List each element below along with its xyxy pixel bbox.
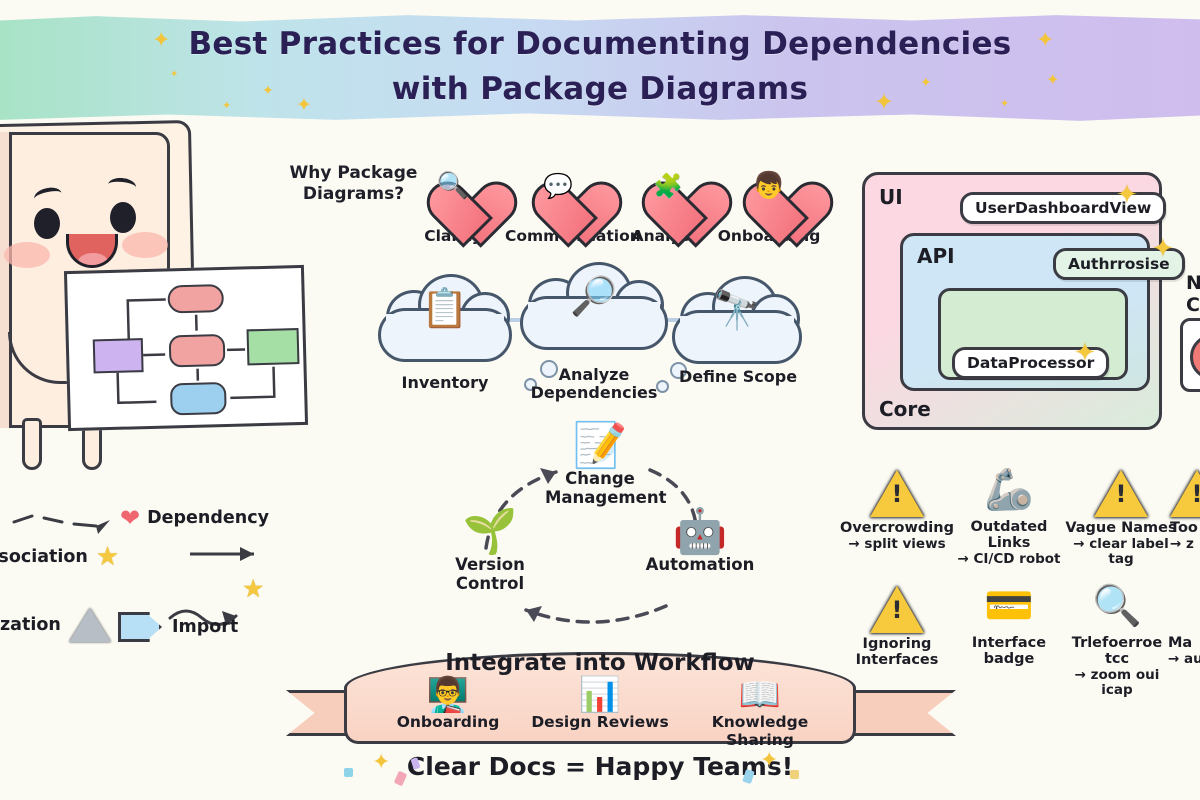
ribbon-item-label: Onboarding: [368, 713, 528, 731]
sparkle-icon: ✦: [222, 100, 231, 111]
pitfall-too-cutoff[interactable]: ! Too → z: [1170, 470, 1200, 552]
infographic-canvas: Best Practices for Documenting Dependenc…: [0, 0, 1200, 800]
warning-exclamation: !: [870, 482, 924, 506]
eye-left: [34, 208, 60, 239]
legend-label-import: Import: [172, 617, 238, 637]
book-spine: [0, 132, 12, 428]
presentation-icon: 📊: [520, 678, 680, 712]
star-icon: ★: [96, 544, 119, 570]
pitfall-fix: → clear label tag: [1062, 537, 1180, 567]
sparkle-icon: ✦: [920, 76, 932, 90]
interface-badge-icon: 💳: [950, 586, 1068, 632]
blush-right: [122, 232, 168, 258]
eye-right: [110, 202, 136, 233]
pitfall-title: Outdated Links: [950, 520, 1068, 552]
cutoff-line-1: N: [1186, 272, 1200, 294]
puzzle-icon: 🧩: [648, 168, 688, 204]
telescope-icon: 🔭: [664, 288, 810, 333]
robot-icon: 🤖: [645, 510, 755, 554]
sparkle-icon: ✦: [262, 84, 274, 98]
pitfall-title: Ma: [1168, 636, 1200, 652]
why-item-communication[interactable]: 💬 Communication: [505, 148, 611, 245]
ribbon-item-knowledge-sharing[interactable]: 📖 Knowledge Sharing: [680, 678, 840, 749]
blush-left: [4, 242, 50, 268]
legend-label-association: ssociation: [0, 547, 88, 567]
why-item-analysis[interactable]: 🧩 Analysis: [615, 148, 721, 245]
heart-shape: 👦: [727, 148, 811, 224]
sparkle-icon: ✦: [152, 30, 170, 52]
star-icon: ✦: [1116, 182, 1138, 208]
open-book-icon: 📖: [680, 678, 840, 712]
warning-icon: !: [870, 586, 924, 633]
ribbon-tail-right: [846, 690, 956, 736]
legend-row-generalization: lization: [0, 608, 111, 642]
cutoff-line-2: C: [1186, 294, 1200, 316]
warning-exclamation: !: [1094, 482, 1148, 506]
sparkle-icon: ✦: [760, 750, 778, 772]
cloud-define-scope[interactable]: 🔭 Define Scope: [664, 270, 810, 374]
warning-exclamation: !: [1170, 482, 1200, 506]
window-pencil-icon: 📝: [545, 424, 655, 468]
ribbon-item-label: Knowledge Sharing: [680, 713, 840, 749]
sparkle-icon: ✦: [296, 96, 312, 115]
cloud-analyze-dependencies[interactable]: 🔎 Analyze Dependencies: [512, 256, 676, 366]
why-item-clarity[interactable]: 🔍 Clarity: [400, 148, 506, 245]
spacer: [1168, 586, 1200, 632]
leg-left: [22, 418, 42, 470]
ribbon-item-onboarding[interactable]: 👨‍🏫 Onboarding: [368, 678, 528, 731]
wb-connectors: [67, 268, 311, 434]
legend-row-wavy: ★: [242, 576, 264, 601]
sparkle-icon: ✦: [874, 90, 894, 114]
sparkle-icon: ✦: [1046, 72, 1059, 88]
package-label-core: Core: [879, 397, 931, 421]
cloud-label: Define Scope: [650, 368, 826, 386]
sparkle-icon: ✦: [1000, 98, 1009, 109]
magnifier-icon: 🔍: [433, 168, 473, 204]
sparkle-icon: ✦: [170, 70, 178, 80]
import-icon: [118, 612, 162, 642]
pitfall-title: Vague Names: [1062, 521, 1180, 537]
cloud-inventory[interactable]: 📋 Inventory: [370, 268, 520, 372]
pitfall-fix: → split views: [838, 537, 956, 552]
warning-exclamation: !: [870, 598, 924, 622]
ribbon-title: Integrate into Workflow: [344, 650, 856, 676]
confetti: [790, 770, 799, 779]
legend-row-import: Import: [118, 612, 238, 642]
pitfall-ma-cutoff[interactable]: Ma → au: [1168, 586, 1200, 667]
book-mascot: [0, 116, 246, 508]
warning-icon: !: [1170, 470, 1200, 517]
pitfall-title: Interface: [950, 636, 1068, 652]
cycle-label: Change Management: [545, 470, 655, 508]
heart-icon: ❤: [120, 504, 140, 532]
warning-icon: !: [870, 470, 924, 517]
header-banner: [0, 14, 1200, 122]
speech-bubbles-icon: 💬: [538, 168, 578, 204]
magnifier-icon: 🔍: [1058, 586, 1176, 632]
package-label-api: API: [917, 244, 955, 268]
pitfall-title: Too: [1170, 521, 1200, 537]
sparkle-icon: ✦: [372, 752, 390, 774]
cycle-label: Version Control: [438, 556, 542, 594]
pitfall-fix: → CI/CD robot: [950, 552, 1068, 567]
legend-row-dependency: ❤ Dependency: [120, 504, 269, 532]
magnifier-arrows-icon: 🔎: [512, 274, 676, 319]
pitfall-title: Overcrowding: [838, 521, 956, 537]
legend-label-dependency: Dependency: [147, 508, 269, 528]
why-label-text: Why Package Diagrams?: [290, 163, 418, 204]
pitfall-title-2: badge: [950, 652, 1068, 668]
cycle-node-version-control[interactable]: 🌱 Version Control: [438, 510, 542, 594]
cycle-label: Automation: [645, 556, 755, 575]
cycle-node-automation[interactable]: 🤖 Automation: [645, 510, 755, 575]
triangle-icon: [69, 608, 111, 642]
star-icon: ✦: [1152, 236, 1174, 262]
cycle-node-change-management[interactable]: 📝 Change Management: [545, 424, 655, 508]
heart-shape: 🔍: [411, 148, 495, 224]
star-icon: ★: [242, 576, 264, 601]
warning-icon: !: [1094, 470, 1148, 517]
clipboard-box-icon: 📋: [370, 286, 520, 331]
pitfall-overcrowding[interactable]: ! Overcrowding → split views: [838, 470, 956, 552]
legend-label-generalization: lization: [0, 615, 61, 635]
pitfall-title: Trlefoerroe tcc: [1058, 636, 1176, 668]
cutoff-text-right: N C: [1186, 272, 1200, 316]
whiteboard: [64, 265, 308, 431]
confetti: [344, 768, 353, 777]
ribbon-item-design-reviews[interactable]: 📊 Design Reviews: [520, 678, 680, 731]
pitfall-fix: → au: [1168, 652, 1200, 667]
person-icon: 👦: [749, 168, 789, 204]
pitfall-vague-names[interactable]: ! Vague Names → clear label tag: [1062, 470, 1180, 567]
pitfall-interface-badge[interactable]: 💳 Interface badge: [950, 586, 1068, 668]
robot-arm-icon: 🦾: [950, 470, 1068, 516]
pitfall-fix: → z: [1170, 537, 1200, 552]
package-label-ui: UI: [879, 185, 903, 209]
sprout-branch-icon: 🌱: [438, 510, 542, 554]
heart-shape: 🧩: [626, 148, 710, 224]
why-item-onboarding[interactable]: 👦 Onboarding: [716, 148, 822, 245]
person-presenting-icon: 👨‍🏫: [368, 678, 528, 712]
pitfall-garbled-magnifier[interactable]: 🔍 Trlefoerroe tcc → zoom oui icap: [1058, 586, 1176, 698]
heart-shape: 💬: [516, 148, 600, 224]
legend-row-association: ssociation ★: [0, 544, 111, 570]
pitfall-fix: → zoom oui icap: [1058, 668, 1176, 698]
ribbon-item-label: Design Reviews: [520, 713, 680, 731]
sparkle-icon: ✦: [1036, 30, 1054, 52]
pitfall-outdated-links[interactable]: 🦾 Outdated Links → CI/CD robot: [950, 470, 1068, 567]
star-icon: ✦: [1074, 340, 1096, 366]
